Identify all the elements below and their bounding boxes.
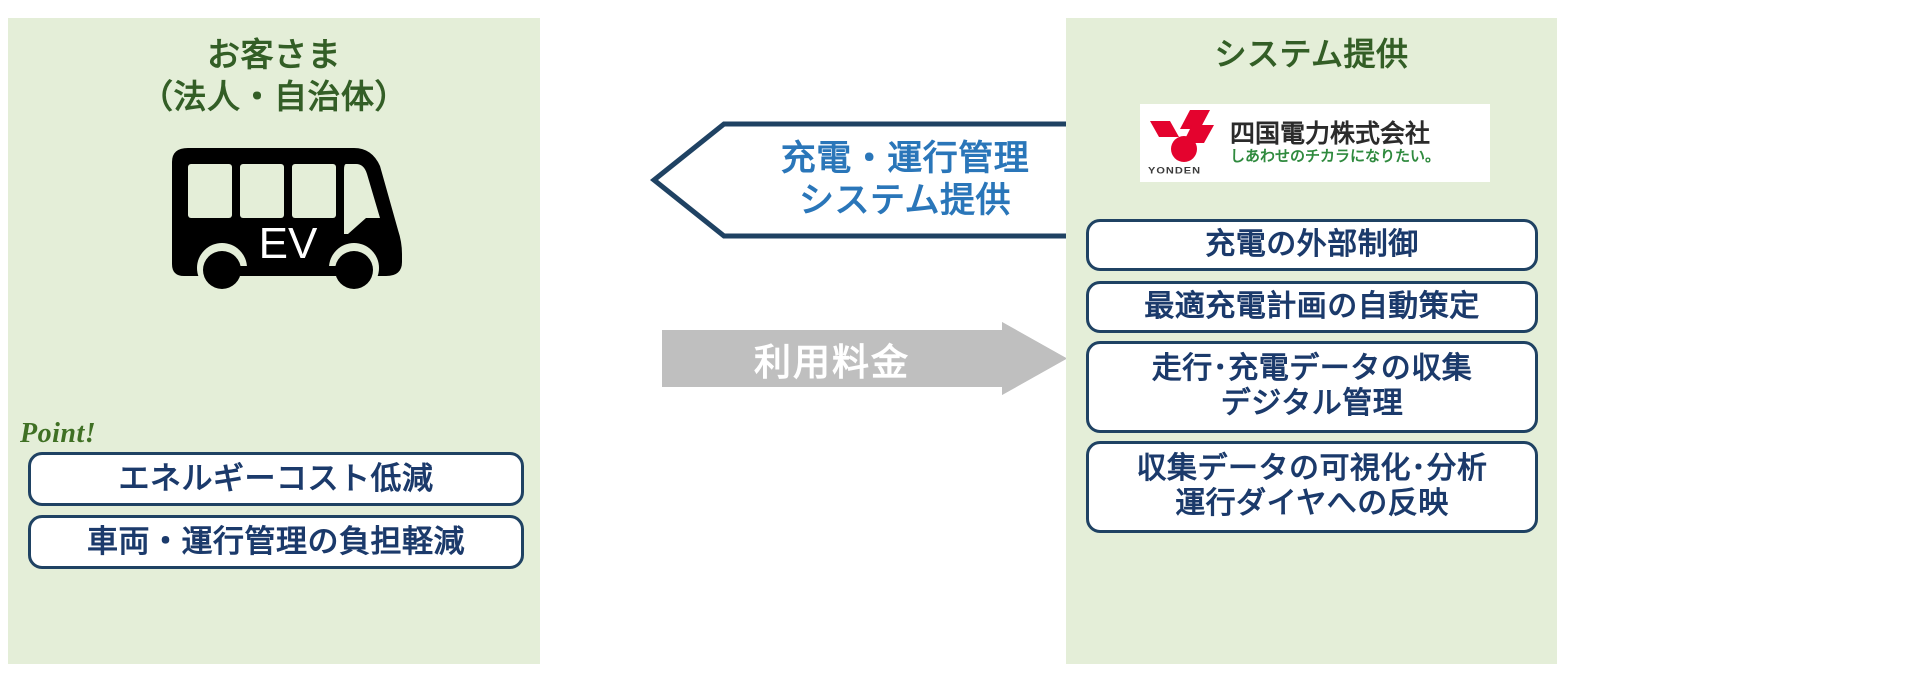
feature-box-optimal-charge-plan: 最適充電計画の自動策定 — [1086, 281, 1538, 333]
feature-box-data-collection: 走行･充電データの収集 デジタル管理 — [1086, 341, 1538, 433]
feature-label-line1: 走行･充電データの収集 — [1152, 352, 1473, 387]
benefit-box-energy-cost: エネルギーコスト低減 — [28, 452, 524, 506]
diagram-canvas: お客さま （法人・自治体） EV Point! エネルギーコスト低減 — [0, 0, 1920, 682]
point-label: Point! — [20, 418, 96, 450]
customer-panel-title: お客さま （法人・自治体） — [8, 34, 540, 118]
feature-label-line2: 運行ダイヤへの反映 — [1137, 487, 1488, 522]
feature-box-visualization-analysis: 収集データの可視化･分析 運行ダイヤへの反映 — [1086, 441, 1538, 533]
arrow-system-provision: 充電・運行管理 システム提供 — [650, 120, 1070, 240]
feature-label-line1: 収集データの可視化･分析 — [1137, 452, 1488, 487]
benefit-label: エネルギーコスト低減 — [119, 461, 434, 497]
yonden-logo-card: YONDEN 四国電力株式会社 しあわせのチカラになりたい。 — [1140, 104, 1490, 182]
arrow-system-line2: システム提供 — [799, 180, 1011, 222]
yonden-wordmark: YONDEN — [1148, 166, 1201, 176]
yonden-pinwheel-icon: YONDEN — [1146, 107, 1224, 179]
customer-title-line1: お客さま — [8, 34, 540, 76]
feature-label-line2: デジタル管理 — [1152, 387, 1473, 422]
ev-bus-icon: EV — [158, 144, 406, 289]
arrow-usage-fee: 利用料金 — [662, 322, 1067, 395]
arrow-system-line1: 充電・運行管理 — [781, 138, 1030, 180]
ev-label: EV — [259, 219, 318, 268]
system-provider-panel-title: システム提供 — [1066, 34, 1557, 75]
feature-label: 充電の外部制御 — [1205, 228, 1419, 263]
customer-title-line2: （法人・自治体） — [8, 76, 540, 118]
benefit-label: 車両・運行管理の負担軽減 — [87, 524, 465, 560]
benefit-box-fleet-management: 車両・運行管理の負担軽減 — [28, 515, 524, 569]
arrow-usage-fee-text: 利用料金 — [662, 322, 1002, 395]
feature-label: 最適充電計画の自動策定 — [1144, 290, 1480, 325]
yonden-company-name: 四国電力株式会社 — [1230, 122, 1440, 147]
feature-box-external-charge-control: 充電の外部制御 — [1086, 219, 1538, 271]
yonden-slogan: しあわせのチカラになりたい。 — [1230, 149, 1440, 164]
arrow-system-provision-text: 充電・運行管理 システム提供 — [740, 120, 1070, 240]
yonden-logo-text: 四国電力株式会社 しあわせのチカラになりたい。 — [1230, 122, 1440, 164]
